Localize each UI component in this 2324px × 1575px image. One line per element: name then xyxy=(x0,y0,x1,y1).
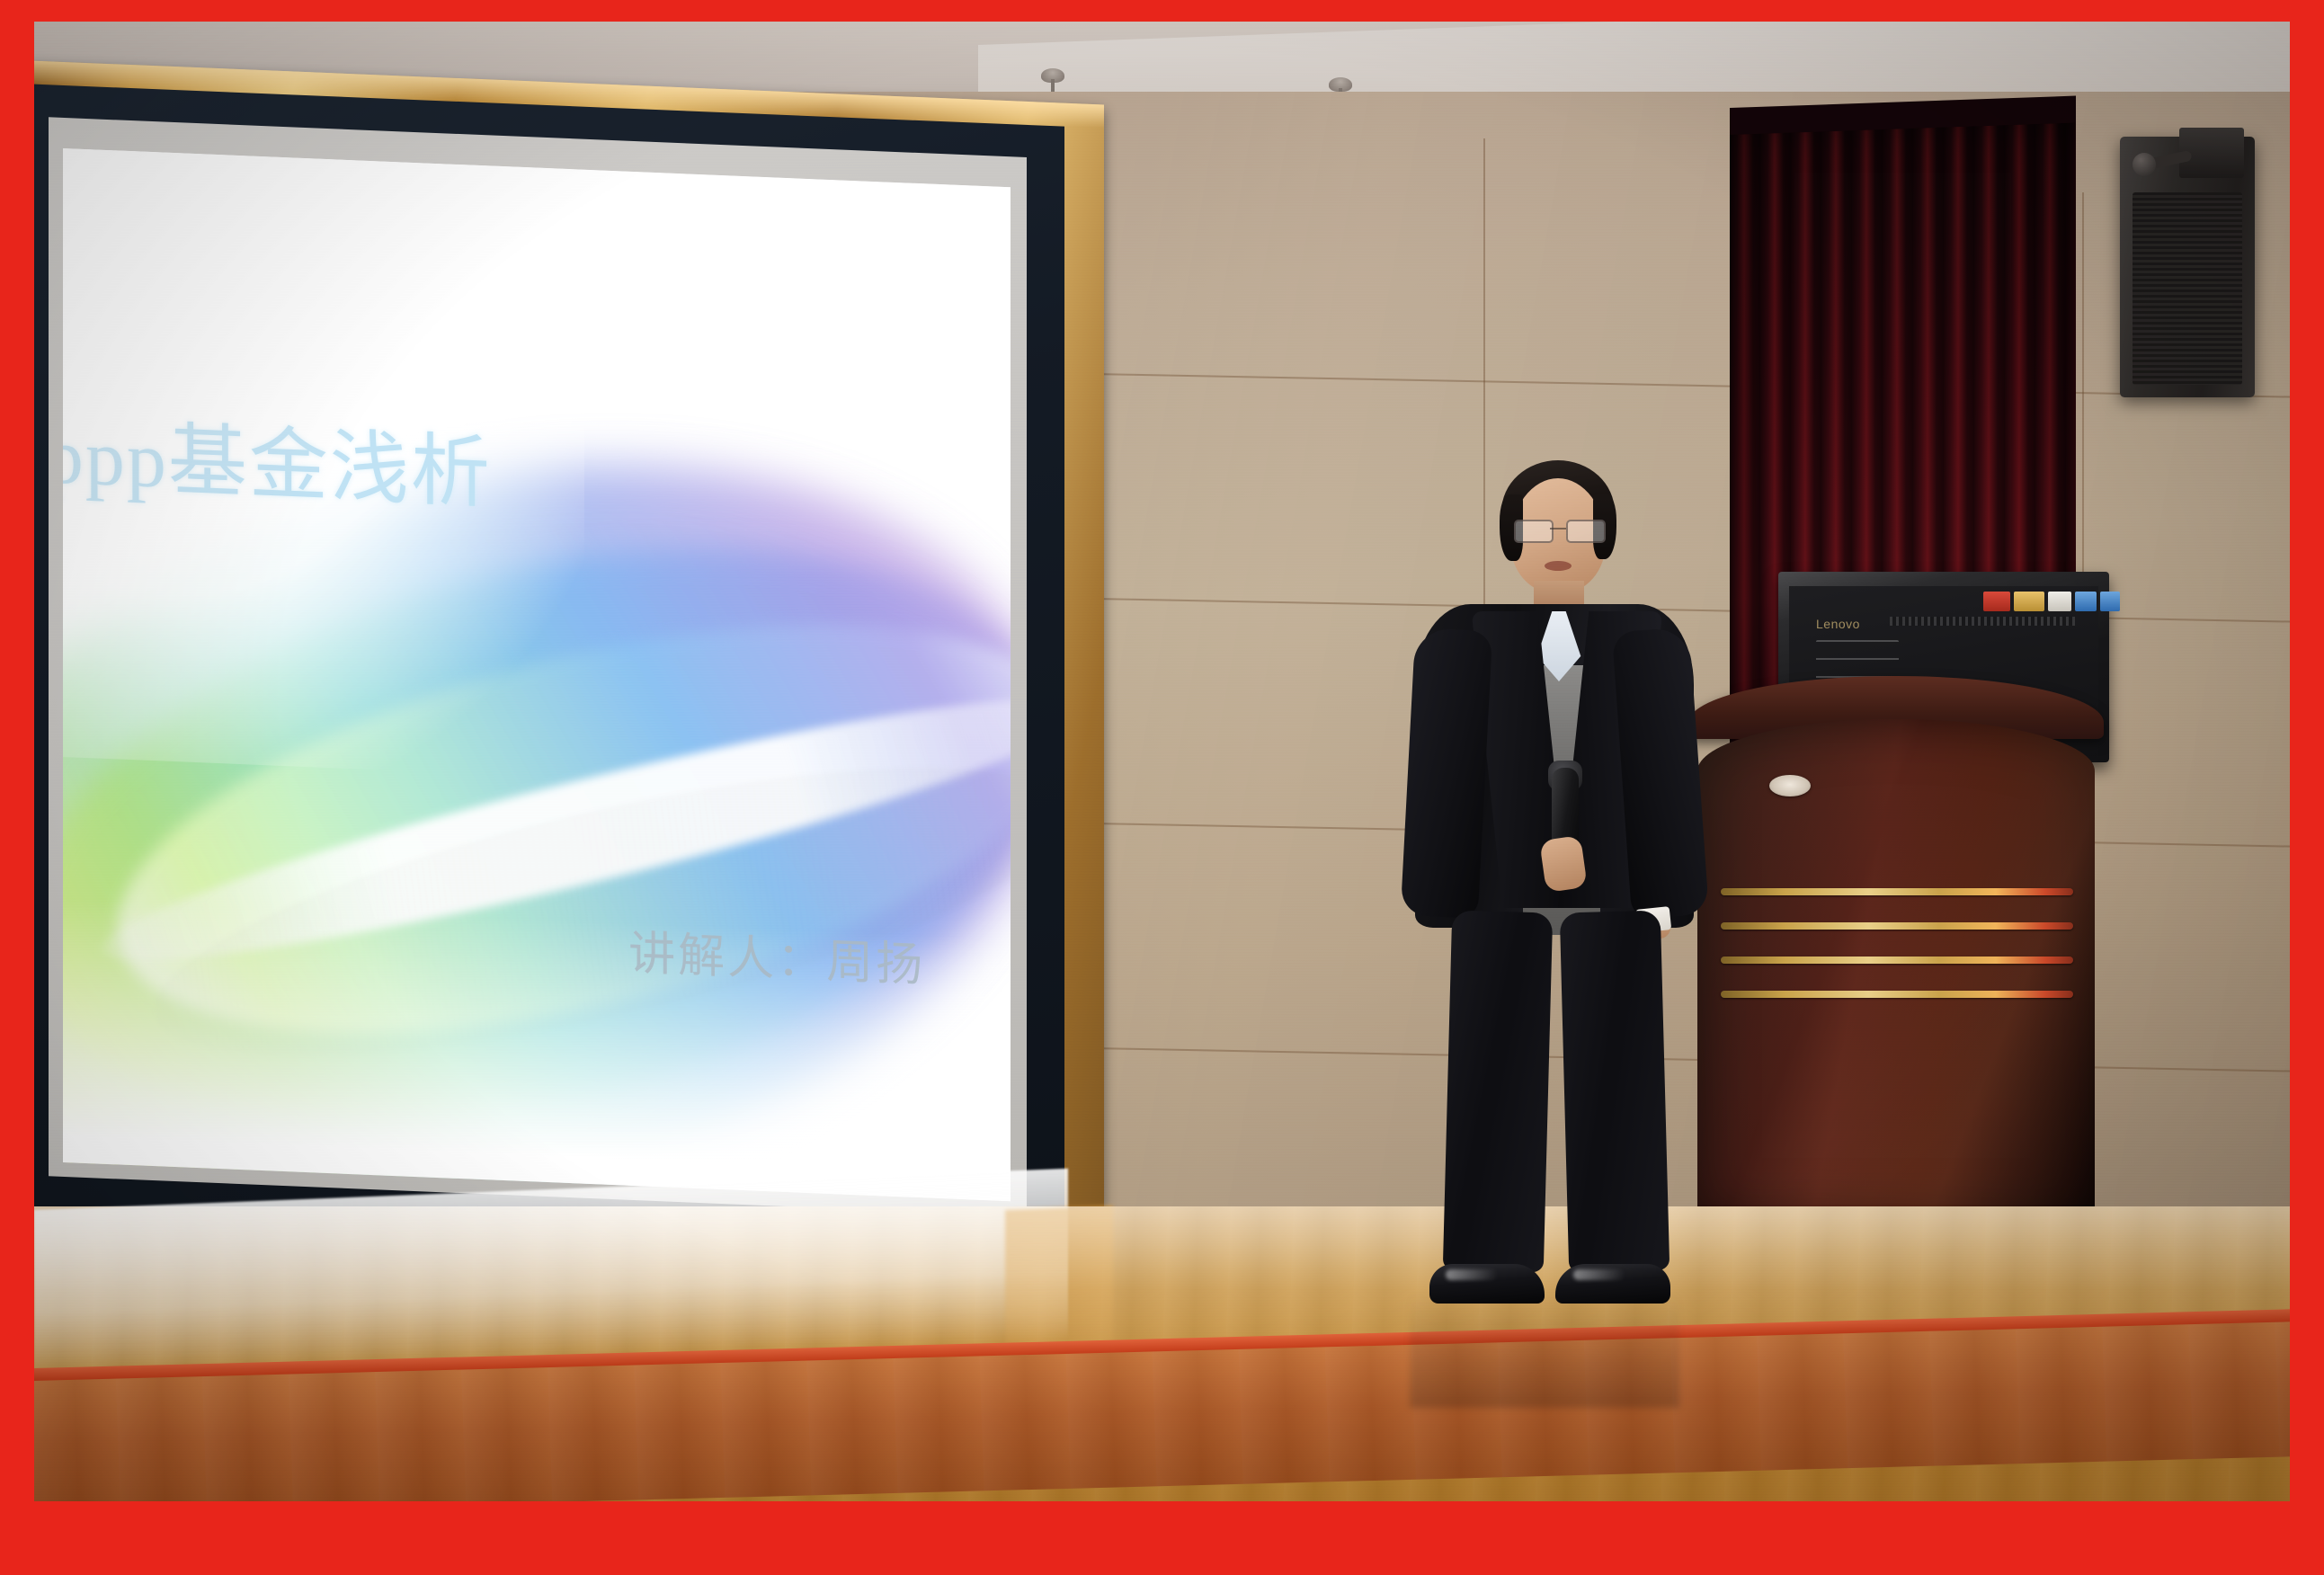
monitor-badge-blue xyxy=(2075,592,2097,611)
presenter-person xyxy=(1401,444,1706,1334)
podium-gold-stripe xyxy=(1721,991,2073,998)
legs xyxy=(1440,912,1670,1280)
podium-gold-stripe xyxy=(1721,922,2073,930)
hand-holding-microphone xyxy=(1539,835,1588,893)
sprinkler-head-icon xyxy=(1041,68,1064,83)
monitor-badge-orange xyxy=(2014,592,2044,611)
podium-gold-stripe xyxy=(1721,957,2073,964)
slide-swoosh-graphic xyxy=(63,148,1011,1201)
mouth xyxy=(1545,561,1572,571)
shoe-highlight xyxy=(1446,1269,1498,1280)
slide-title: ppp基金浅析 xyxy=(63,391,492,523)
monitor-badge-white xyxy=(2048,592,2071,611)
projected-slide: ppp基金浅析 讲解人：周扬 xyxy=(63,148,1011,1201)
shoe-highlight xyxy=(1573,1269,1625,1280)
monitor-badge-blue-2 xyxy=(2100,592,2120,611)
leg-left xyxy=(1443,911,1553,1273)
sprinkler-head-icon xyxy=(1329,77,1352,92)
podium-sheen xyxy=(1697,719,2095,1223)
conference-hall-scene: ppp基金浅析 讲解人：周扬 Lenovo xyxy=(34,22,2290,1501)
slide-presenter-label: 讲解人：周扬 xyxy=(628,915,925,995)
podium-logo-badge xyxy=(1769,775,1811,796)
podium-gold-stripe xyxy=(1721,888,2073,895)
leg-right xyxy=(1560,911,1670,1273)
monitor-brand-label: Lenovo xyxy=(1816,617,1860,631)
projection-screen-assembly: ppp基金浅析 讲解人：周扬 xyxy=(34,59,1104,1291)
arm-left xyxy=(1401,627,1493,919)
monitor-badge-red xyxy=(1983,592,2010,611)
speaker-grille-icon xyxy=(2133,192,2242,385)
photo-with-red-border: ppp基金浅析 讲解人：周扬 Lenovo xyxy=(0,0,2324,1575)
glasses-icon xyxy=(1514,520,1604,539)
monitor-vent-icon xyxy=(1890,617,2075,626)
speaker-mount-knob xyxy=(2133,153,2156,176)
